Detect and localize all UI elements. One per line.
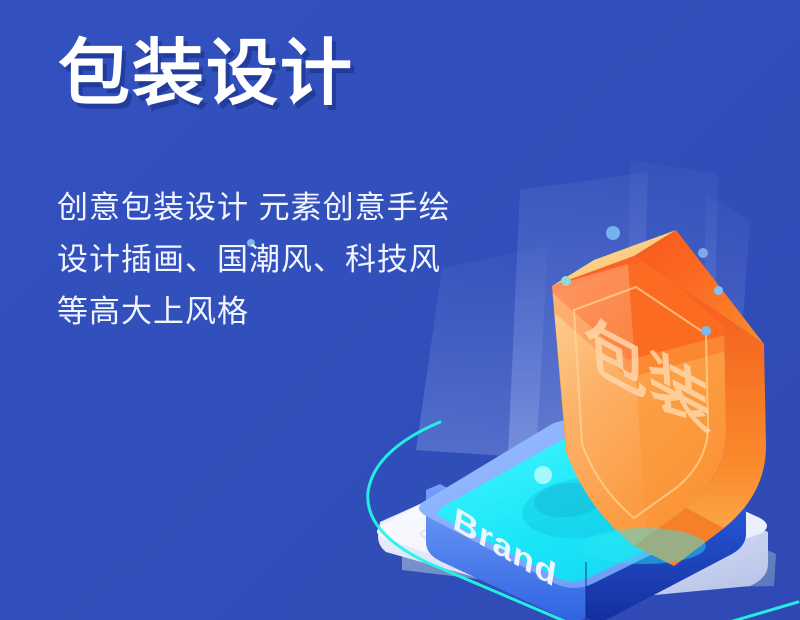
packaging-design-banner: Brand — [0, 0, 800, 620]
subtitle-block: 创意包装设计 元素创意手绘 设计插画、国潮风、科技风 等高大上风格 — [57, 182, 451, 338]
subtitle-line-2: 设计插画、国潮风、科技风 — [57, 234, 451, 286]
particle-dot — [701, 326, 711, 336]
page-title: 包装设计 — [58, 38, 354, 110]
particle-dot — [698, 248, 708, 258]
particle-dot — [606, 226, 620, 240]
subtitle-line-3: 等高大上风格 — [57, 286, 451, 338]
particle-dot — [561, 276, 571, 286]
particle-dot — [714, 286, 723, 295]
subtitle-line-1: 创意包装设计 元素创意手绘 — [57, 182, 451, 234]
